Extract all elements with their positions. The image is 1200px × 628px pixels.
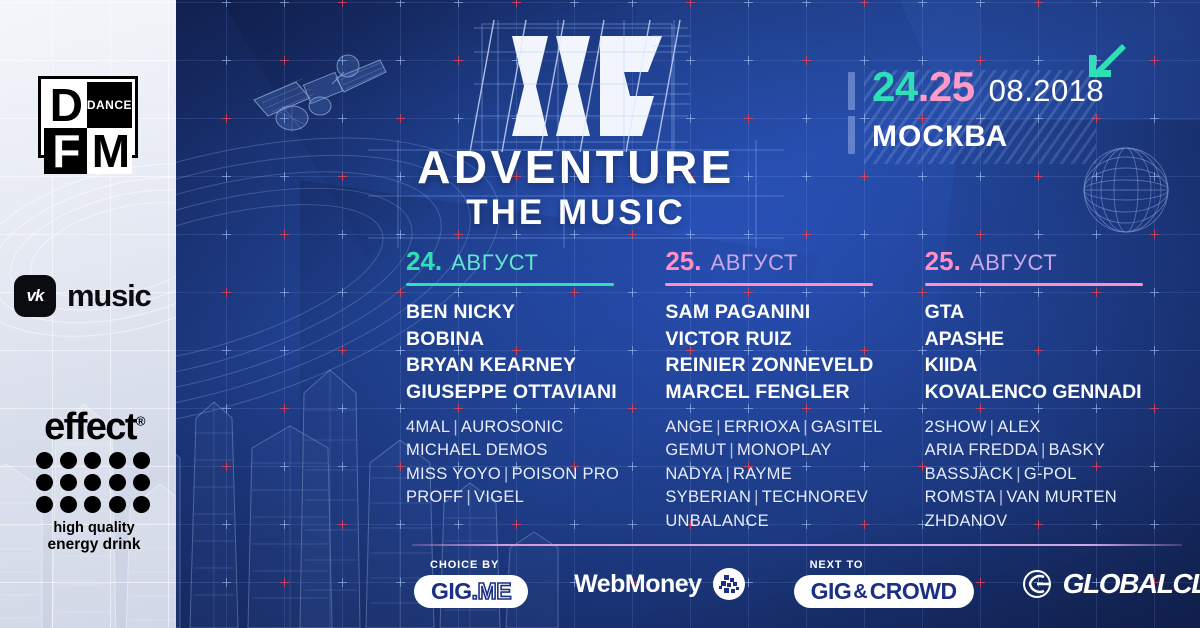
support-line: ROMSTA|VAN MURTEN bbox=[925, 486, 1168, 509]
headliner-item: MARCEL FENGLER bbox=[665, 379, 908, 406]
headliner-item: SAM PAGANINI bbox=[665, 299, 908, 326]
gigcrowd-pill: GIG & CROWD bbox=[794, 575, 974, 608]
support-line: BASSJACK|G-POL bbox=[925, 463, 1168, 486]
support-line: UNBALANCE bbox=[665, 510, 908, 533]
support-line: GEMUT|MONOPLAY bbox=[665, 439, 908, 462]
event-dates: 24.25 bbox=[872, 66, 975, 108]
lineup-month: АВГУСТ bbox=[451, 252, 538, 274]
support-line: ARIA FREDDA|BASKY bbox=[925, 439, 1168, 462]
title-the-music: THE MUSIC bbox=[402, 192, 750, 233]
vk-music-label: music bbox=[67, 278, 151, 314]
date-day-24: 24 bbox=[872, 63, 918, 110]
dfm-letter-f: F bbox=[44, 128, 87, 174]
sponsor-sidebar: D DANCE F M vk music effect® high qualit… bbox=[0, 0, 176, 628]
lineup-day-number: 25. bbox=[665, 248, 701, 274]
effect-wordmark: effect® bbox=[44, 408, 144, 446]
support-list: 2SHOW|ALEX ARIA FREDDA|BASKY BASSJACK|G-… bbox=[925, 416, 1168, 533]
globalclubbing-text: GLOBALCLUBBING bbox=[1063, 568, 1200, 599]
lineup-column-header: 25. АВГУСТ bbox=[925, 248, 1168, 274]
effect-word-text: effect bbox=[44, 406, 136, 448]
dfm-radio-logo: D DANCE F M bbox=[38, 76, 138, 158]
sponsor-footer: CHOICE BY GIG .ME WebMoney bbox=[400, 556, 1190, 612]
headliner-item: KOVALENCO GENNADI bbox=[925, 379, 1168, 406]
webmoney-logo[interactable]: WebMoney bbox=[574, 567, 746, 601]
gigme-me-text: .ME bbox=[472, 580, 511, 603]
gigcrowd-gig-text: GIG bbox=[811, 580, 852, 603]
satellite-icon bbox=[252, 42, 388, 150]
dfm-letter-d: D bbox=[44, 82, 87, 128]
festival-title: ADVENTURE THE MUSIC bbox=[402, 144, 750, 233]
footer-divider bbox=[412, 544, 1182, 546]
vk-music-logo: vk music bbox=[14, 275, 151, 317]
headliner-item: BRYAN KEARNEY bbox=[406, 352, 649, 379]
gigme-gig-text: GIG bbox=[431, 580, 472, 603]
arrow-down-left-icon bbox=[1084, 38, 1128, 82]
festival-poster: D DANCE F M vk music effect® high qualit… bbox=[0, 0, 1200, 628]
globalclubbing-logo[interactable]: GLOBALCLUBBING® bbox=[1022, 568, 1200, 600]
registered-mark-icon: ® bbox=[136, 413, 144, 428]
lineup-header-rule bbox=[925, 283, 1143, 286]
effect-dot-matrix bbox=[36, 452, 152, 513]
effect-tagline-2: energy drink bbox=[34, 536, 154, 553]
lineup-column-header: 25. АВГУСТ bbox=[665, 248, 908, 274]
globalclubbing-wordmark: GLOBALCLUBBING® bbox=[1063, 568, 1200, 600]
headliner-list: SAM PAGANINI VICTOR RUIZ REINIER ZONNEVE… bbox=[665, 299, 908, 405]
support-line: MICHAEL DEMOS bbox=[406, 439, 649, 462]
support-list: 4MAL|AUROSONIC MICHAEL DEMOS MISS YOYO|P… bbox=[406, 416, 649, 510]
headliner-item: GIUSEPPE OTTAVIANI bbox=[406, 379, 649, 406]
sidebar-rings-decoration bbox=[0, 150, 176, 350]
effect-tagline-1: high quality bbox=[34, 520, 154, 536]
title-adventure: ADVENTURE bbox=[402, 144, 750, 192]
gigcrowd-logo[interactable]: NEXT TO GIG & CROWD bbox=[794, 560, 974, 608]
headliner-item: BEN NICKY bbox=[406, 299, 649, 326]
gigme-logo[interactable]: CHOICE BY GIG .ME bbox=[414, 560, 528, 608]
lineup-column-header: 24. АВГУСТ bbox=[406, 248, 649, 274]
gigme-pill: GIG .ME bbox=[414, 575, 528, 608]
support-line: PROFF|VIGEL bbox=[406, 486, 649, 509]
lineup-month: АВГУСТ bbox=[710, 252, 797, 274]
headliner-item: REINIER ZONNEVELD bbox=[665, 352, 908, 379]
support-list: ANGE|ERRIOXA|GASITEL GEMUT|MONOPLAY NADY… bbox=[665, 416, 908, 533]
headliner-item: GTA bbox=[925, 299, 1168, 326]
support-line: ANGE|ERRIOXA|GASITEL bbox=[665, 416, 908, 439]
gigcrowd-crowd-text: CROWD bbox=[870, 580, 957, 603]
headliner-item: APASHE bbox=[925, 326, 1168, 353]
support-line: SYBERIAN|TECHNOREV bbox=[665, 486, 908, 509]
lineup-column-day-2: 25. АВГУСТ SAM PAGANINI VICTOR RUIZ REIN… bbox=[665, 248, 924, 533]
support-line: MISS YOYO|POISON PRO bbox=[406, 463, 649, 486]
lineup-day-number: 24. bbox=[406, 248, 442, 274]
dfm-letter-m: M bbox=[87, 128, 132, 174]
globalclubbing-icon bbox=[1022, 569, 1052, 599]
lineup-column-day-1: 24. АВГУСТ BEN NICKY BOBINA BRYAN KEARNE… bbox=[406, 248, 665, 533]
date-day-25: 25 bbox=[929, 63, 975, 110]
date-location-block: 24.25 08.2018 МОСКВА bbox=[848, 66, 1104, 152]
dfm-dance-text: DANCE bbox=[87, 82, 132, 128]
vk-icon: vk bbox=[14, 275, 56, 317]
gigcrowd-kicker: NEXT TO bbox=[794, 560, 864, 571]
webmoney-label: WebMoney bbox=[574, 570, 702, 599]
gigme-kicker: CHOICE BY bbox=[414, 560, 499, 571]
support-line: 4MAL|AUROSONIC bbox=[406, 416, 649, 439]
lineup-day-number: 25. bbox=[925, 248, 961, 274]
headliner-list: GTA APASHE KIIDA KOVALENCO GENNADI bbox=[925, 299, 1168, 405]
event-city: МОСКВА bbox=[872, 122, 1104, 152]
lineup-month: АВГУСТ bbox=[970, 252, 1057, 274]
adventure-monogram-icon bbox=[486, 32, 666, 140]
lineup-columns: 24. АВГУСТ BEN NICKY BOBINA BRYAN KEARNE… bbox=[406, 248, 1184, 533]
support-line: ZHDANOV bbox=[925, 510, 1168, 533]
headliner-item: VICTOR RUIZ bbox=[665, 326, 908, 353]
gigcrowd-amp: & bbox=[851, 582, 869, 602]
webmoney-icon bbox=[712, 567, 746, 601]
lineup-header-rule bbox=[665, 283, 873, 286]
support-line: 2SHOW|ALEX bbox=[925, 416, 1168, 439]
headliner-item: KIIDA bbox=[925, 352, 1168, 379]
festival-logo-block: ADVENTURE THE MUSIC bbox=[402, 24, 750, 233]
lineup-header-rule bbox=[406, 283, 614, 286]
lineup-column-day-3: 25. АВГУСТ GTA APASHE KIIDA KOVALENCO GE… bbox=[925, 248, 1184, 533]
effect-energy-logo: effect® high quality energy drink bbox=[34, 408, 154, 554]
headliner-list: BEN NICKY BOBINA BRYAN KEARNEY GIUSEPPE … bbox=[406, 299, 649, 405]
date-separator: . bbox=[918, 63, 929, 110]
headliner-item: BOBINA bbox=[406, 326, 649, 353]
support-line: NADYA|RAYME bbox=[665, 463, 908, 486]
